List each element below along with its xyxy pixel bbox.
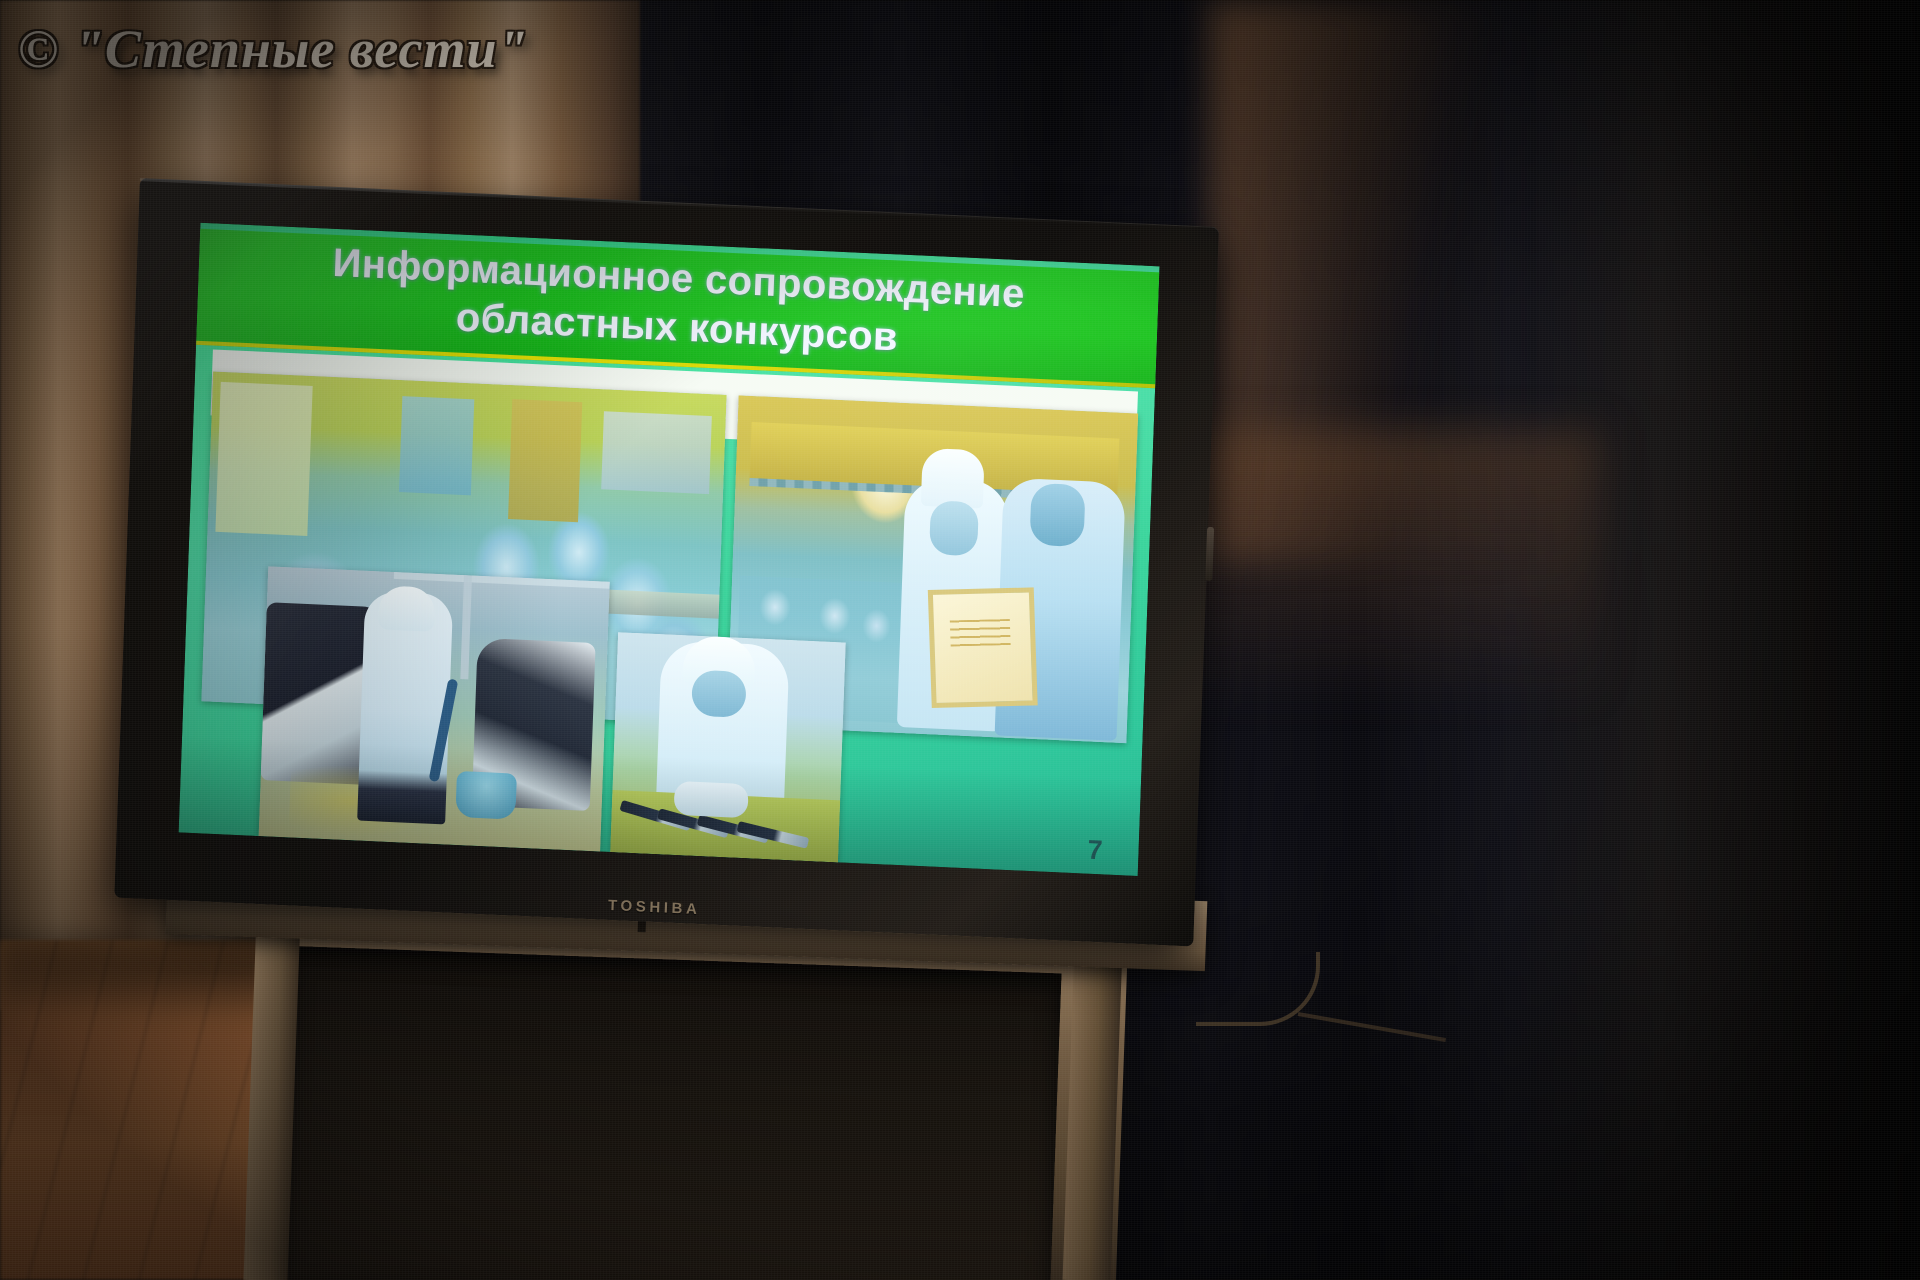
scene-photograph: Информационное сопровождение областных к…: [0, 0, 1920, 1280]
tv-stand-shelf-opening: [280, 946, 1061, 1280]
photo-milking-image: [259, 566, 610, 851]
photo-tools-image: [610, 632, 846, 862]
toshiba-television: Информационное сопровождение областных к…: [114, 178, 1219, 947]
slide-photo-milking: [259, 566, 610, 851]
slide-page-number: 7: [1087, 835, 1103, 867]
tv-screen: Информационное сопровождение областных к…: [179, 223, 1160, 876]
warm-wall-highlight-lower: [1180, 430, 1600, 760]
presentation-slide: Информационное сопровождение областных к…: [179, 223, 1160, 876]
slide-photo-tools: [610, 632, 846, 862]
watermark: © "Степные вести": [18, 18, 529, 80]
